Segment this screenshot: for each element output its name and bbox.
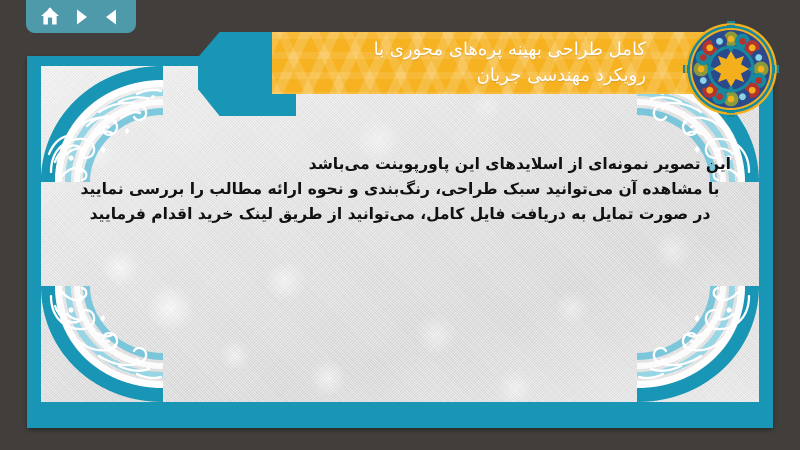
- page-title: کامل طراحی بهینه پره‌های محوری با رویکرد…: [286, 37, 646, 89]
- body-line-3: در صورت تمایل به دریافت فایل کامل، می‌تو…: [69, 202, 731, 227]
- forward-button[interactable]: [69, 5, 93, 29]
- body-line-1: این تصویر نمونه‌ای از اسلایدهای این پاور…: [69, 152, 731, 177]
- forward-icon: [72, 8, 90, 26]
- body-line-2: با مشاهده آن می‌توانید سبک طراحی، رنگ‌بن…: [69, 177, 731, 202]
- ornament-corner-bottom-right: [637, 286, 759, 402]
- body-text-block: این تصویر نمونه‌ای از اسلایدهای این پاور…: [41, 152, 759, 227]
- home-icon: [40, 7, 60, 26]
- title-banner: کامل طراحی بهینه پره‌های محوری با رویکرد…: [272, 32, 734, 94]
- back-button[interactable]: [100, 5, 124, 29]
- home-button[interactable]: [38, 5, 62, 29]
- back-icon: [103, 8, 121, 26]
- navigation-bar: [26, 0, 136, 33]
- slide-content-area: این تصویر نمونه‌ای از اسلایدهای این پاور…: [41, 66, 759, 402]
- ornament-corner-bottom-left: [41, 286, 163, 402]
- slide-frame: این تصویر نمونه‌ای از اسلایدهای این پاور…: [27, 56, 773, 428]
